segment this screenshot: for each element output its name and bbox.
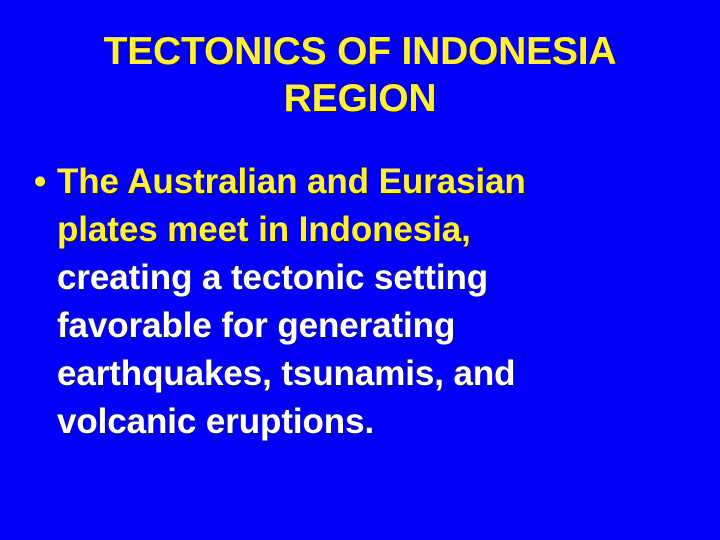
bullet-line-5: earthquakes, tsunamis, and (57, 350, 690, 398)
slide-body-block: • The Australian and Eurasian plates mee… (30, 158, 690, 446)
bullet-line-3: creating a tectonic setting (57, 254, 690, 302)
bullet-line-6: volcanic eruptions. (57, 398, 690, 446)
bullet-item: • The Australian and Eurasian plates mee… (30, 158, 690, 446)
presentation-slide: TECTONICS OF INDONESIA REGION • The Aust… (0, 0, 720, 540)
bullet-line-2: plates meet in Indonesia, (57, 206, 690, 254)
slide-title-block: TECTONICS OF INDONESIA REGION (0, 28, 720, 122)
bullet-line-4: favorable for generating (57, 302, 690, 350)
bullet-dot-icon: • (30, 158, 57, 206)
page-title: TECTONICS OF INDONESIA REGION (0, 28, 720, 122)
bullet-text-lines: The Australian and Eurasian plates meet … (57, 158, 690, 446)
bullet-line-1: The Australian and Eurasian (57, 158, 690, 206)
